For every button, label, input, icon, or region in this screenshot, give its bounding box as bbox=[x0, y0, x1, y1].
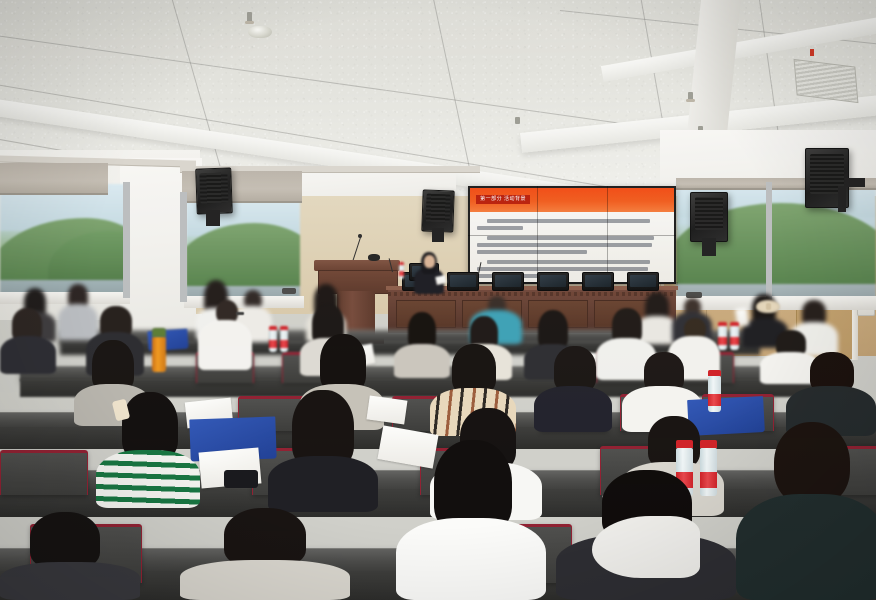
attendee-foreground bbox=[0, 512, 140, 600]
attendee-foreground bbox=[180, 508, 350, 600]
table-monitor bbox=[627, 272, 659, 291]
podium-mic-head bbox=[358, 234, 362, 238]
led-video-wall: 第一部分 活动背景 bbox=[468, 186, 676, 284]
fire-sprinkler bbox=[515, 117, 520, 124]
presenter bbox=[412, 250, 446, 292]
wall-speaker-wood-wall bbox=[690, 192, 728, 242]
eyeglasses bbox=[236, 312, 244, 315]
window-mullion bbox=[180, 192, 187, 302]
attendee-body bbox=[268, 456, 378, 512]
attendee-hair bbox=[224, 508, 306, 566]
slide-section-tag: 第一部分 活动背景 bbox=[476, 195, 530, 204]
attendee-body bbox=[180, 560, 350, 600]
slide-text-line bbox=[487, 236, 654, 240]
slide-text-line bbox=[487, 219, 650, 223]
attendee-body bbox=[198, 320, 252, 370]
attendee-arm bbox=[592, 516, 700, 578]
attendee bbox=[0, 308, 56, 374]
slide-text-line bbox=[487, 260, 650, 264]
attendee bbox=[96, 392, 200, 508]
attendee bbox=[198, 300, 252, 370]
table-monitor bbox=[492, 272, 524, 291]
fire-sprinkler-head bbox=[686, 99, 695, 102]
attendee bbox=[534, 346, 612, 432]
podium-mic-base bbox=[368, 254, 380, 261]
speaker-grille bbox=[695, 197, 724, 231]
hair-bow-knot bbox=[766, 303, 771, 310]
vent-indicator bbox=[810, 49, 814, 56]
water-bottle bbox=[718, 326, 727, 350]
wall-speaker-center bbox=[421, 189, 454, 232]
flask-cap bbox=[152, 328, 166, 337]
monitor-screen bbox=[495, 275, 521, 287]
window-latch[interactable] bbox=[282, 288, 296, 294]
smoke-detector bbox=[248, 26, 272, 38]
wall-speaker-left bbox=[195, 167, 233, 214]
attendee-foreground bbox=[396, 440, 546, 600]
water-bottle-table bbox=[399, 265, 404, 279]
table-monitor bbox=[447, 272, 479, 291]
slide-text-line bbox=[477, 250, 587, 254]
window-mullion bbox=[766, 182, 772, 300]
orange-flask bbox=[152, 336, 166, 372]
window-blind-left[interactable] bbox=[0, 163, 108, 195]
table-monitor bbox=[582, 272, 614, 291]
attendee-body bbox=[534, 386, 612, 432]
panel-bezel bbox=[468, 235, 676, 236]
monitor-screen bbox=[450, 275, 476, 287]
slide-text-line bbox=[477, 243, 652, 247]
attendee-body bbox=[0, 562, 140, 600]
speaker-bracket bbox=[838, 186, 846, 212]
monitor-screen bbox=[630, 275, 656, 287]
window-mullion bbox=[123, 182, 130, 298]
speaker-bracket bbox=[206, 210, 220, 226]
presenter-head bbox=[424, 255, 435, 268]
fire-sprinkler-head bbox=[245, 21, 254, 24]
water-bottle bbox=[280, 330, 288, 352]
water-bottle bbox=[708, 376, 721, 412]
water-bottle bbox=[269, 330, 277, 352]
speaker-grille bbox=[426, 194, 451, 223]
speaker-grille bbox=[200, 172, 228, 204]
attendee-hair bbox=[30, 512, 100, 568]
window-left bbox=[0, 184, 128, 296]
presenter-paper bbox=[435, 275, 446, 285]
smartphone[interactable] bbox=[224, 470, 258, 488]
attendee-foreground bbox=[736, 422, 876, 600]
slide-text-line bbox=[477, 226, 523, 230]
attendee-body bbox=[0, 336, 56, 374]
monitor-screen bbox=[585, 275, 611, 287]
attendee-hair bbox=[452, 344, 496, 394]
attendee-body bbox=[736, 494, 876, 600]
seat[interactable] bbox=[0, 450, 88, 495]
lecture-hall-photo: 第一部分 活动背景 bbox=[0, 0, 876, 600]
attendee bbox=[268, 390, 378, 512]
slide-text-line bbox=[477, 267, 648, 271]
table-monitor bbox=[537, 272, 569, 291]
attendee-body bbox=[396, 518, 546, 600]
water-bottle bbox=[730, 326, 739, 350]
speaker-bracket bbox=[432, 228, 444, 242]
speaker-bracket bbox=[702, 238, 716, 256]
monitor-screen bbox=[540, 275, 566, 287]
speaker-bracket bbox=[845, 178, 865, 187]
attendee-body-striped bbox=[96, 450, 200, 508]
